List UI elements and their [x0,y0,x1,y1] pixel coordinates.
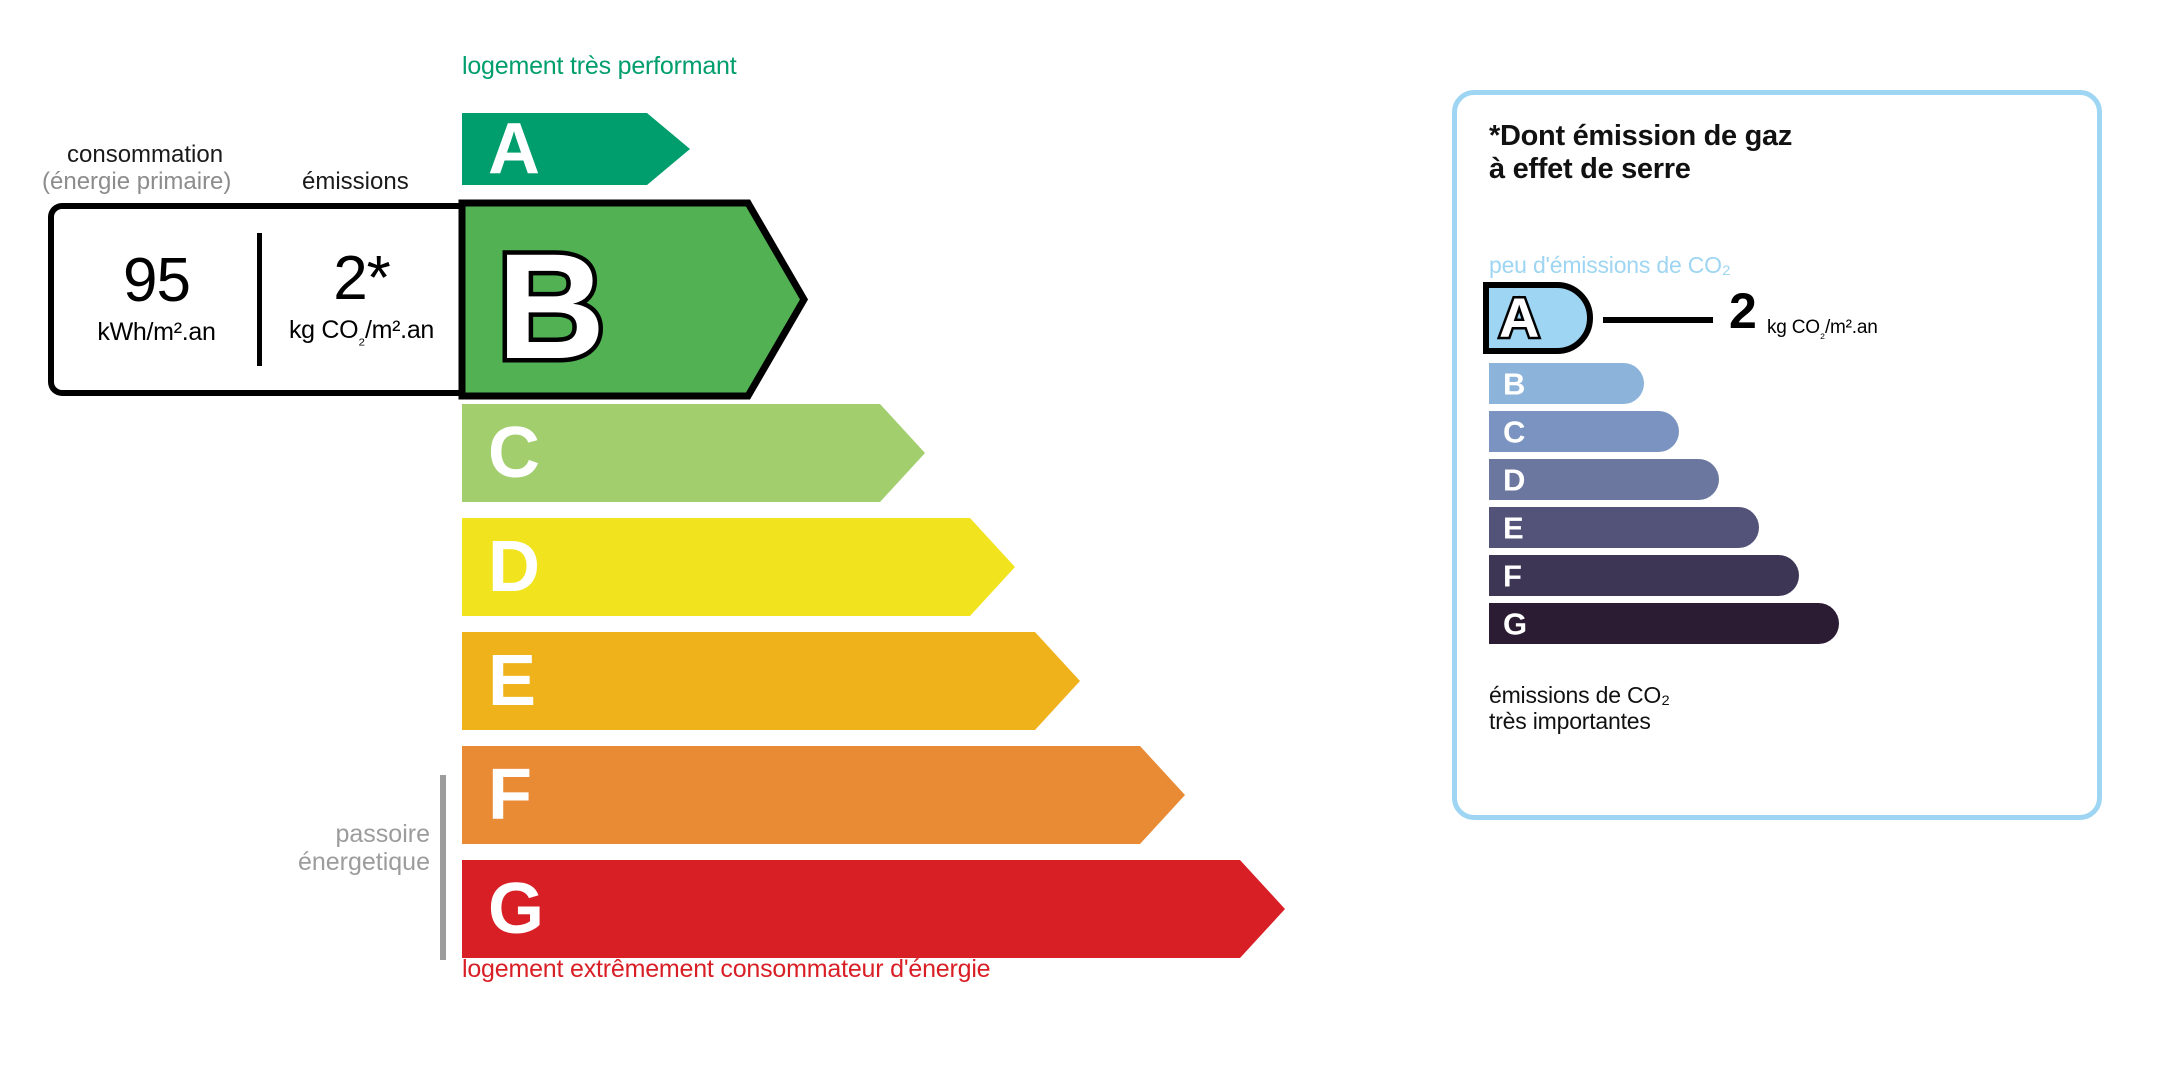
ges-band-E-shape: E [1489,507,1759,548]
ges-band-A-letter: A [1499,290,1539,346]
ges-leader-line [1603,317,1713,323]
energy-band-A: A [462,113,702,185]
energy-band-C: C [462,404,932,502]
greenhouse-gas-panel: *Dont émission de gaz à effet de serre p… [1452,90,2102,820]
emissions-value: 2* [333,250,390,309]
passoire-bracket [440,775,446,960]
consumption-value: 95 [123,252,190,311]
energy-band-G: G [462,860,1292,958]
energy-band-E: E [462,632,1087,730]
ges-band-D-shape: D [1489,459,1719,500]
ges-band-G: G [1489,603,1839,644]
ges-band-C: C [1489,411,1679,452]
ges-bottom-label-line1: émissions de CO₂ [1489,683,1670,709]
ges-band-C-letter: C [1503,416,1525,447]
band-G-shape [462,860,1285,958]
ges-band-F-letter: F [1503,560,1522,591]
passoire-label: passoire énergetique [280,820,430,876]
passoire-label-line1: passoire [280,820,430,848]
ges-band-E-letter: E [1503,512,1524,543]
ges-title-line1: *Dont émission de gaz [1489,120,1792,153]
ges-value: 2 [1729,286,1757,336]
ges-title-line2: à effet de serre [1489,153,1792,186]
consumption-unit: kWh/m².an [97,318,215,347]
passoire-label-line2: énergetique [280,848,430,876]
energy-band-G-letter: G [488,873,544,945]
ges-bottom-label: émissions de CO₂ très importantes [1489,683,1670,735]
energy-band-F: F [462,746,1192,844]
energy-top-label: logement très performant [462,52,737,81]
energy-bottom-label: logement extrêmement consommateur d'éner… [462,955,990,984]
ges-band-A-selected: A [1483,282,1593,354]
consumption-caption-sub: (énergie primaire) [42,168,231,196]
consumption-caption: consommation [67,141,223,169]
ges-band-E: E [1489,507,1759,548]
energy-band-E-letter: E [488,645,536,717]
energy-band-B-selected: B [459,200,819,399]
ges-top-label: peu d'émissions de CO₂ [1489,252,1731,279]
ges-band-G-letter: G [1503,608,1527,639]
ges-band-B-shape: B [1489,363,1644,404]
band-D-shape [462,518,1015,616]
emissions-caption: émissions [302,168,409,196]
ges-band-B-letter: B [1503,368,1525,399]
ges-bottom-label-line2: très importantes [1489,709,1670,735]
emissions-unit: kg CO₂/m².an [289,316,434,349]
ges-value-unit: kg CO₂/m².an [1767,317,1878,341]
band-E-shape [462,632,1080,730]
band-B-letter-glyph: B [497,222,605,390]
energy-band-D: D [462,518,1022,616]
energy-value-box: 95 kWh/m².an 2* kg CO₂/m².an [48,203,464,396]
ges-band-B: B [1489,363,1644,404]
energy-performance-chart: logement très performant consommation (é… [0,0,1400,1079]
ges-band-D-letter: D [1503,464,1525,495]
ges-band-F: F [1489,555,1799,596]
energy-band-D-letter: D [488,531,540,603]
energy-band-C-letter: C [488,417,540,489]
consumption-readout: 95 kWh/m².an [54,209,259,390]
ges-band-G-shape: G [1489,603,1839,644]
band-F-shape [462,746,1185,844]
ges-band-F-shape: F [1489,555,1799,596]
ges-panel-title: *Dont émission de gaz à effet de serre [1489,120,1792,186]
emissions-readout: 2* kg CO₂/m².an [259,209,464,390]
ges-band-C-shape: C [1489,411,1679,452]
energy-band-F-letter: F [488,759,532,831]
ges-band-D: D [1489,459,1719,500]
energy-band-A-letter: A [488,113,540,185]
